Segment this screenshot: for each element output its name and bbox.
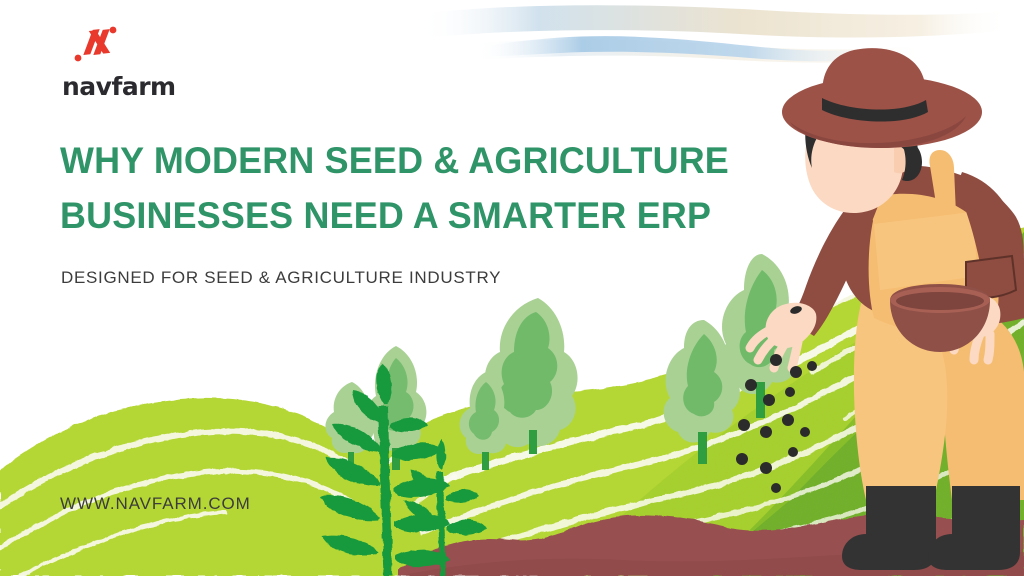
- headline-line-2: BUSINESSES NEED A SMARTER ERP: [60, 188, 758, 243]
- straw-hat: [782, 48, 982, 148]
- sowing-hand: [750, 303, 816, 368]
- tree: [325, 382, 374, 470]
- farmer-figure: [750, 48, 1024, 570]
- foreground-leaf-plant: [320, 362, 486, 576]
- soil-band: [398, 514, 1024, 576]
- presentation-slide: navfarm WHY MODERN SEED & AGRICULTURE BU…: [0, 0, 1024, 576]
- headline-line-1: WHY MODERN SEED & AGRICULTURE: [60, 133, 758, 188]
- seed-bowl: [890, 284, 990, 352]
- rubber-boots: [842, 486, 1020, 570]
- page-title: WHY MODERN SEED & AGRICULTURE BUSINESSES…: [60, 133, 780, 243]
- cloud-wisps: [420, 5, 1010, 62]
- bowl-hand: [946, 296, 1000, 360]
- navfarm-n-monogram-icon: [68, 22, 130, 68]
- tree: [720, 254, 803, 418]
- tree: [484, 298, 577, 454]
- tree: [460, 372, 513, 470]
- tree: [366, 346, 426, 470]
- footer-website-url[interactable]: WWW.NAVFARM.COM: [60, 494, 251, 514]
- falling-seeds: [736, 354, 817, 493]
- tree: [664, 320, 740, 464]
- subtitle: DESIGNED FOR SEED & AGRICULTURE INDUSTRY: [61, 268, 501, 288]
- brand-logo[interactable]: navfarm: [62, 22, 222, 101]
- brand-wordmark: navfarm: [62, 72, 222, 101]
